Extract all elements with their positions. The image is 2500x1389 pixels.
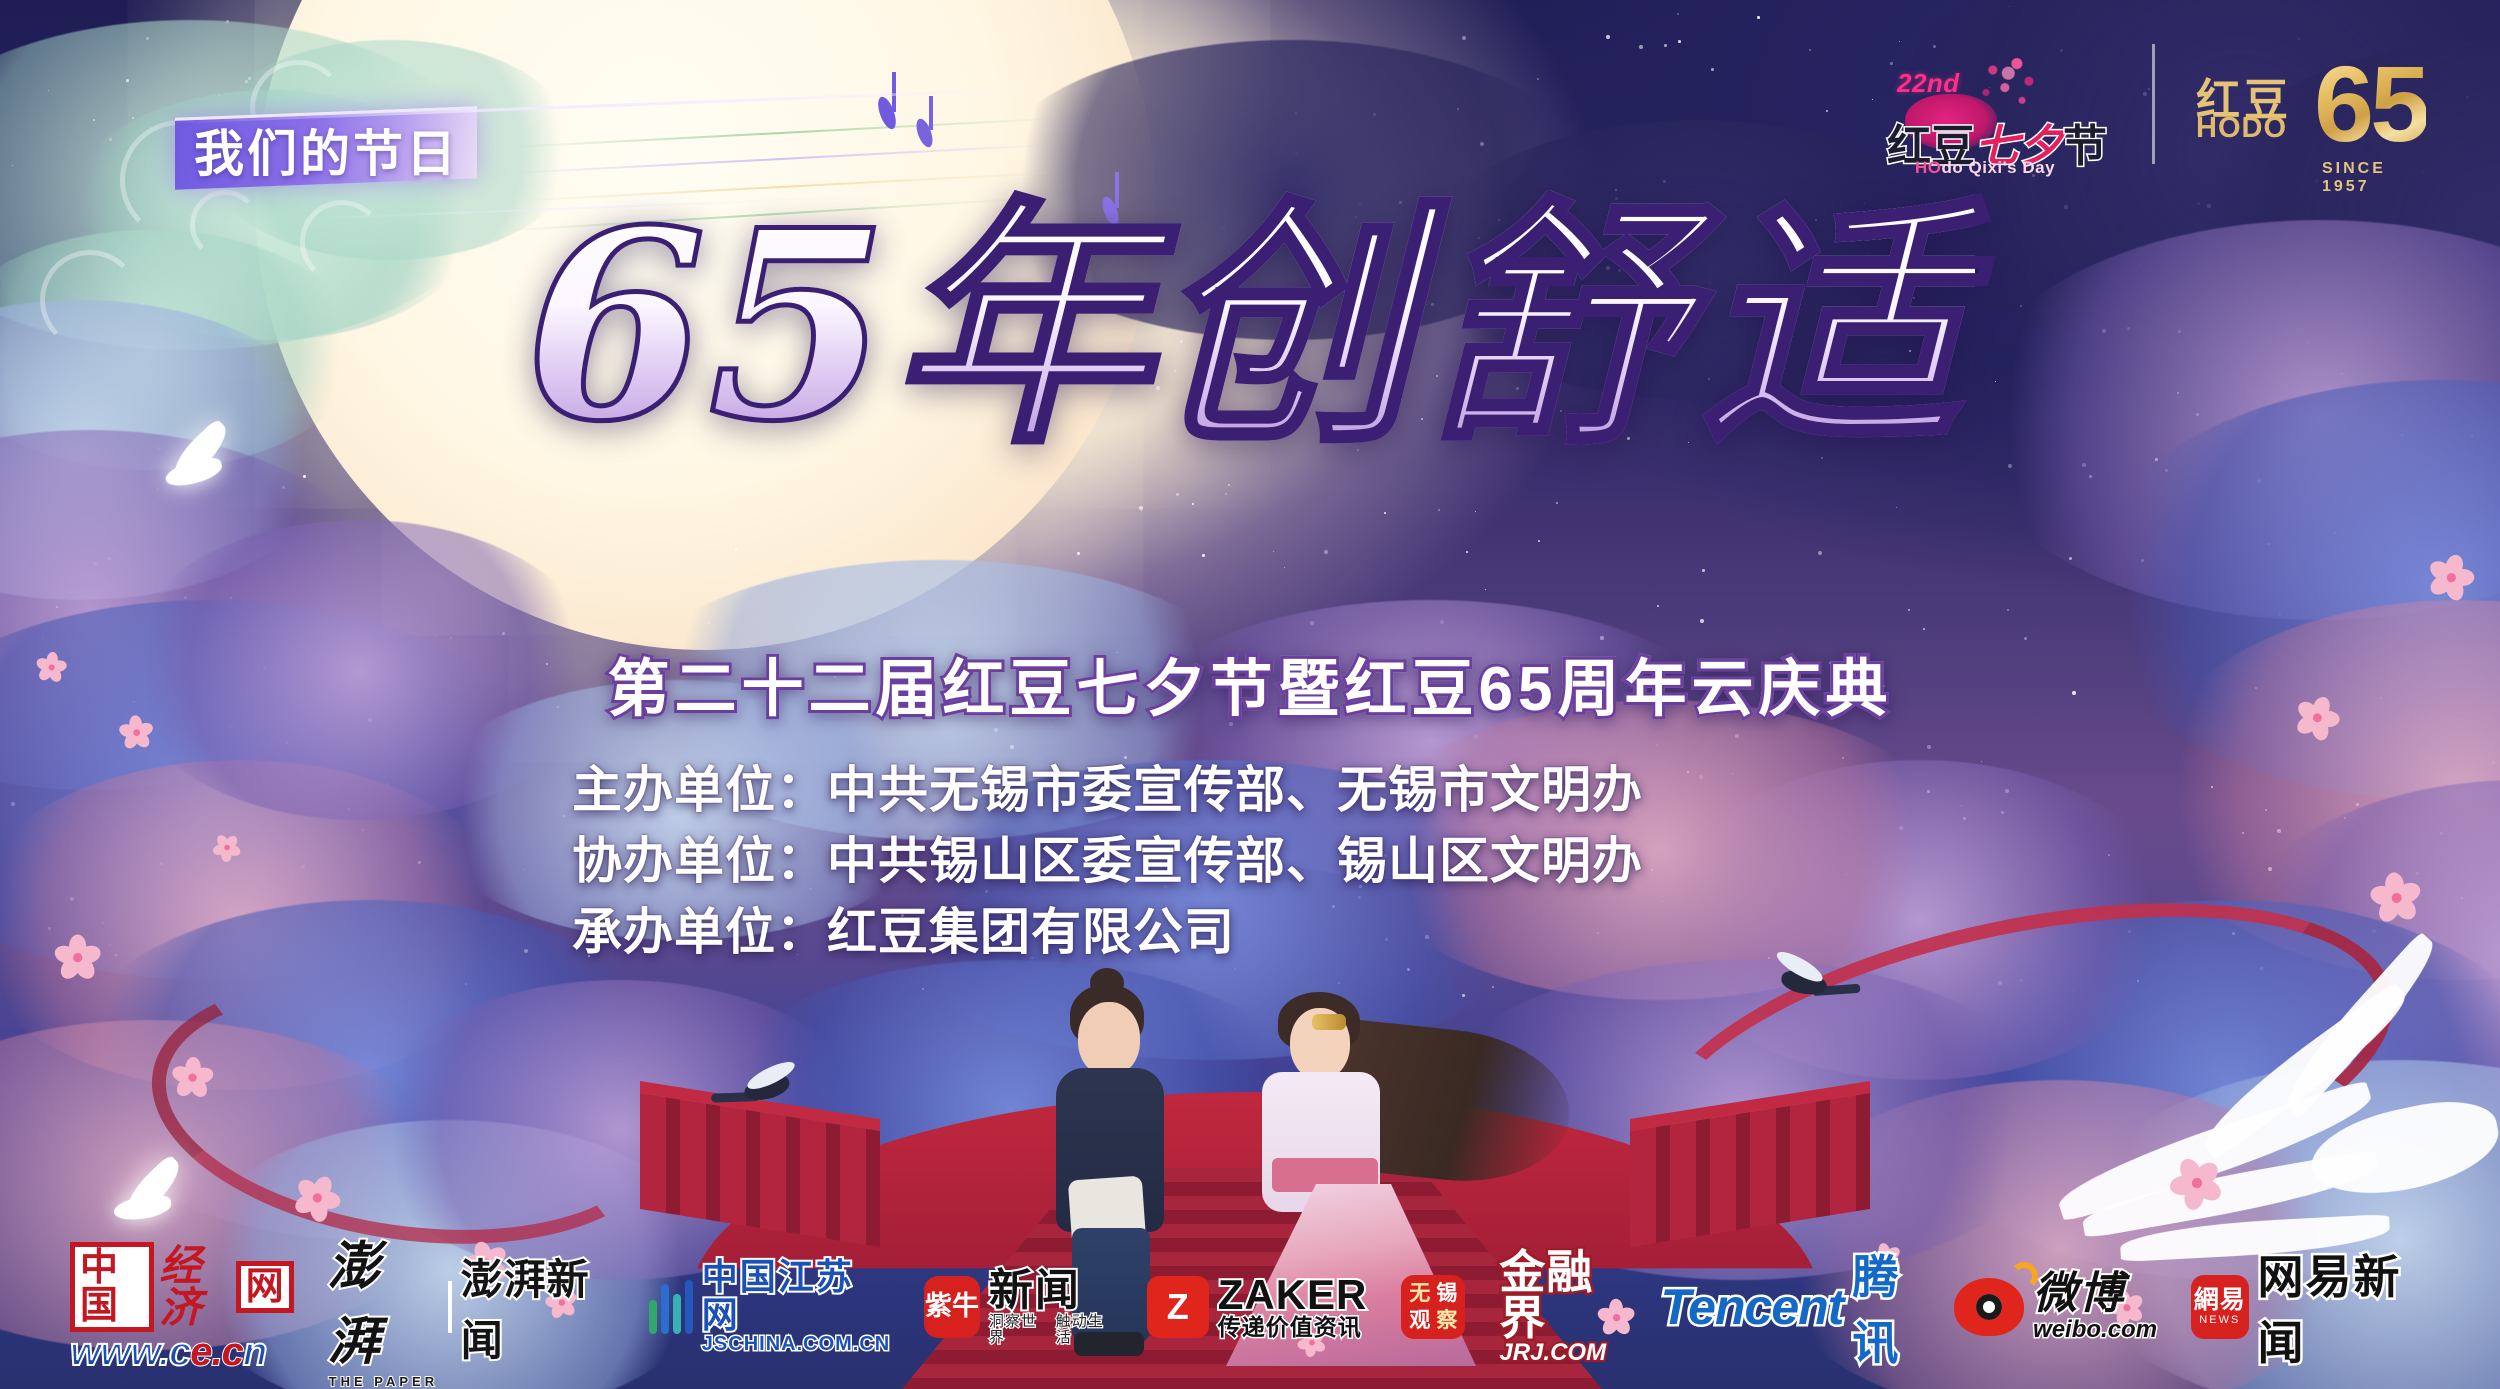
ce-cn-box-1: 中国 bbox=[70, 1242, 154, 1332]
star bbox=[1809, 49, 1811, 51]
ce-cn-box-2: 网 bbox=[236, 1261, 294, 1313]
cherry-blossom bbox=[2429, 554, 2474, 599]
star bbox=[1923, 628, 1925, 630]
jschina-url: JSCHINA.COM.CN bbox=[702, 1334, 890, 1355]
partner-logo-ziniu[interactable]: 紫牛 新闻 洞察世界 触动生活 bbox=[924, 1263, 1112, 1351]
star bbox=[1700, 619, 1704, 623]
partner-logo-wuxi-observe[interactable]: 无 锡 观 察 bbox=[1401, 1263, 1465, 1351]
qixi-edition-label: 22nd bbox=[1897, 68, 1960, 99]
cherry-blossom bbox=[35, 650, 70, 685]
qixi-suffix-cn: 节 bbox=[2063, 122, 2107, 171]
ziniu-tag-2: 触动生活 bbox=[1056, 1314, 1113, 1346]
tencent-en: Tencent bbox=[1661, 1278, 1844, 1336]
star bbox=[1462, 36, 1466, 40]
star bbox=[1384, 512, 1386, 514]
main-title-block: 65年创舒适 bbox=[0, 190, 2500, 463]
subtitle: 第二十二届红豆七夕节暨红豆65周年云庆典 bbox=[0, 638, 2500, 728]
organizer-line-undertaker: 承办单位：红豆集团有限公司 bbox=[572, 897, 1643, 968]
main-title-phrase: 创舒适 bbox=[1153, 174, 1975, 479]
star bbox=[1228, 484, 1230, 486]
logo-divider bbox=[2152, 44, 2155, 164]
netease-cn: 网易新闻 bbox=[2258, 1241, 2430, 1373]
zaker-cn: 传递价值资讯 bbox=[1218, 1316, 1368, 1340]
netease-badge-icon: 網易 NEWS bbox=[2191, 1275, 2248, 1339]
star bbox=[1202, 554, 1205, 557]
star bbox=[1639, 45, 1643, 49]
star bbox=[1537, 78, 1539, 80]
hodo-anniversary-logo: 红豆 HODO 65 SINCE 1957 bbox=[2196, 56, 2426, 166]
star bbox=[1284, 567, 1285, 568]
star bbox=[1981, 761, 1982, 762]
weibo-cn: 微博 bbox=[2033, 1271, 2157, 1317]
main-title: 65年创舒适 bbox=[525, 190, 1975, 463]
ce-url-part2: e.c bbox=[190, 1330, 243, 1374]
ziniu-tag-1: 洞察世界 bbox=[989, 1314, 1046, 1346]
star bbox=[1077, 552, 1080, 555]
star bbox=[1485, 589, 1486, 590]
zhinu-hair-ornament bbox=[1312, 1014, 1346, 1030]
partner-logo-jschina[interactable]: 中国江苏网 JSCHINA.COM.CN bbox=[649, 1263, 890, 1351]
ce-cn-script: 经济 bbox=[154, 1245, 235, 1329]
star bbox=[1466, 551, 1468, 553]
organizer-line-coorganizer: 协办单位：中共锡山区委宣传部、锡山区文明办 bbox=[572, 826, 1643, 897]
tencent-cn: 腾讯 bbox=[1852, 1241, 1920, 1373]
star bbox=[1273, 551, 1274, 552]
weibo-wave-icon bbox=[2010, 1262, 2038, 1290]
the-paper-divider bbox=[448, 1281, 452, 1333]
ziniu-badge-icon: 紫牛 bbox=[924, 1276, 980, 1338]
star bbox=[1927, 745, 1931, 749]
star bbox=[1225, 493, 1227, 495]
star bbox=[1678, 40, 1681, 43]
star bbox=[1657, 605, 1659, 607]
netease-badge-cn: 網易 bbox=[2194, 1288, 2246, 1313]
jrj-cn: 金融界 bbox=[1499, 1249, 1626, 1341]
ce-cn-url: www.ce.cn bbox=[70, 1332, 266, 1372]
wuxi-observe-badge: 无 锡 观 察 bbox=[1401, 1275, 1465, 1339]
ce-url-part3: n bbox=[243, 1330, 266, 1374]
hodo-anniversary-number: 65 bbox=[2314, 50, 2426, 158]
star bbox=[1192, 503, 1194, 505]
star bbox=[1826, 110, 1828, 112]
partner-logo-the-paper[interactable]: 澎 湃 THE PAPER 澎湃新闻 bbox=[328, 1263, 615, 1351]
partner-logo-zaker[interactable]: Z ZAKER 传递价值资讯 bbox=[1147, 1263, 1368, 1351]
cherry-blossom bbox=[55, 935, 100, 980]
poster-canvas: 我们的节日 22nd 红豆七夕节 HOdo Qixi's Day 红豆 HODO… bbox=[0, 0, 2500, 1389]
star bbox=[1606, 35, 1610, 39]
star bbox=[1908, 609, 1910, 611]
star bbox=[1139, 506, 1143, 510]
organizer-list: 主办单位：中共无锡市委宣传部、无锡市文明办 协办单位：中共锡山区委宣传部、锡山区… bbox=[572, 755, 1643, 968]
star bbox=[1664, 44, 1667, 47]
niulang-head bbox=[1078, 1002, 1140, 1076]
weibo-url: weibo.com bbox=[2033, 1317, 2157, 1342]
main-title-year: 65年 bbox=[525, 174, 1153, 479]
hodo-brand-en: HODO bbox=[2196, 112, 2287, 145]
the-paper-english: THE PAPER bbox=[329, 1374, 438, 1389]
star bbox=[1438, 509, 1440, 511]
the-paper-cn: 澎湃新闻 bbox=[461, 1246, 615, 1368]
star bbox=[1899, 41, 1900, 42]
ziniu-tagline: 洞察世界 触动生活 bbox=[989, 1314, 1113, 1346]
star bbox=[1141, 510, 1142, 511]
star bbox=[1711, 68, 1714, 71]
festival-tag-label: 我们的节日 bbox=[194, 114, 459, 186]
organizer-line-host: 主办单位：中共无锡市委宣传部、无锡市文明办 bbox=[572, 755, 1643, 826]
star bbox=[1176, 493, 1179, 496]
star bbox=[1896, 507, 1897, 508]
partner-logo-ce-cn[interactable]: 中国 经济 网 www.ce.cn bbox=[70, 1263, 294, 1351]
partner-logo-tencent[interactable]: Tencent 腾讯 bbox=[1661, 1263, 1921, 1351]
star bbox=[1324, 550, 1328, 554]
netease-badge-en: NEWS bbox=[2199, 1315, 2240, 1326]
star bbox=[1475, 511, 1476, 512]
star bbox=[1538, 540, 1540, 542]
bridge-rail-right bbox=[1630, 1081, 1870, 1247]
cherry-blossom bbox=[171, 1056, 213, 1098]
jschina-bars-icon bbox=[649, 1280, 693, 1334]
wuxi-char-3: 观 bbox=[1409, 1310, 1430, 1331]
partner-logo-weibo[interactable]: 微博 weibo.com bbox=[1954, 1263, 2157, 1351]
star bbox=[1818, 551, 1822, 555]
the-paper-mark: 澎 湃 bbox=[328, 1224, 439, 1374]
star bbox=[1702, 569, 1705, 572]
zaker-en: ZAKER bbox=[1218, 1273, 1368, 1317]
wuxi-char-4: 察 bbox=[1436, 1310, 1457, 1331]
wuxi-char-1: 无 bbox=[1409, 1283, 1430, 1304]
star bbox=[1556, 502, 1558, 504]
star bbox=[2007, 609, 2009, 611]
zaker-badge-icon: Z bbox=[1147, 1276, 1209, 1338]
jschina-cn: 中国江苏网 bbox=[702, 1258, 890, 1334]
wuxi-char-2: 锡 bbox=[1436, 1283, 1457, 1304]
qixi-festival-logo: 22nd 红豆七夕节 HOdo Qixi's Day bbox=[1885, 48, 2095, 158]
star bbox=[1677, 13, 1679, 15]
partner-logo-jrj[interactable]: 金融界 JRJ.COM bbox=[1499, 1263, 1626, 1351]
ziniu-cn: 新闻 bbox=[989, 1268, 1113, 1314]
star bbox=[1757, 16, 1760, 19]
bridge-rail-left bbox=[640, 1081, 880, 1247]
partner-logo-netease[interactable]: 網易 NEWS 网易新闻 bbox=[2191, 1263, 2430, 1351]
jrj-url: JRJ.COM bbox=[1499, 1341, 1626, 1365]
media-partner-strip: 中国 经济 网 www.ce.cn 澎 湃 THE PAPER 澎湃新闻 bbox=[0, 1254, 2500, 1359]
qixi-en-day: Qixi's Day bbox=[1969, 158, 2056, 177]
ce-url-part1: www.c bbox=[70, 1330, 190, 1374]
